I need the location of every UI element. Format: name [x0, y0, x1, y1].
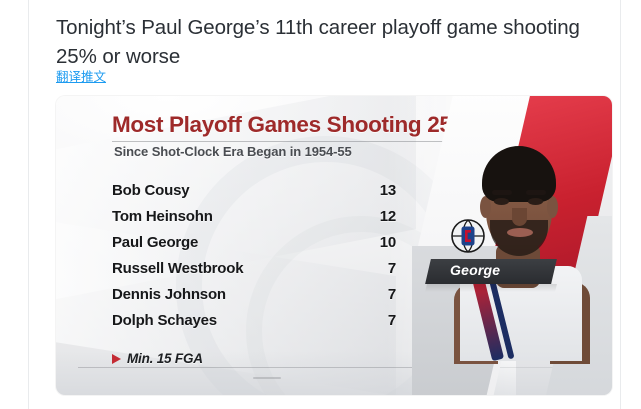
- translate-tweet-link[interactable]: 翻译推文: [56, 69, 106, 84]
- footnote-text: Min. 15 FGA: [127, 351, 203, 366]
- player-value: 7: [350, 312, 396, 329]
- list-item: Tom Heinsohn 12: [112, 208, 412, 234]
- footnote-tick-mark: [253, 377, 281, 379]
- list-item: Russell Westbrook 7: [112, 260, 412, 286]
- triangle-marker-icon: [112, 354, 121, 364]
- page-divider-left: [28, 0, 29, 409]
- player-name: Tom Heinsohn: [112, 208, 213, 225]
- tweet-screenshot: Tonight’s Paul George’s 11th career play…: [0, 0, 641, 409]
- player-name-banner-shadow: [425, 284, 557, 292]
- list-item: Dolph Schayes 7: [112, 312, 412, 338]
- player-name: Dolph Schayes: [112, 312, 217, 329]
- player-value: 7: [350, 286, 396, 303]
- headshot-brow-left: [492, 190, 512, 195]
- player-value: 7: [350, 260, 396, 277]
- footnote-divider: [78, 367, 428, 368]
- headshot-eye-right: [528, 198, 543, 205]
- player-name-label: George: [450, 262, 500, 278]
- list-item: Paul George 10: [112, 234, 412, 260]
- leaderboard-list: Bob Cousy 13 Tom Heinsohn 12 Paul George…: [112, 182, 412, 338]
- player-value: 12: [350, 208, 396, 225]
- player-name: Dennis Johnson: [112, 286, 226, 303]
- list-item: Bob Cousy 13: [112, 182, 412, 208]
- page-divider-right: [620, 0, 621, 409]
- headshot-nose: [512, 208, 527, 226]
- headshot-brow-right: [526, 190, 546, 195]
- player-name: Russell Westbrook: [112, 260, 243, 277]
- player-value: 13: [350, 182, 396, 199]
- player-panel: George: [412, 96, 612, 395]
- footnote: Min. 15 FGA: [112, 351, 203, 366]
- player-name: Paul George: [112, 234, 198, 251]
- player-name: Bob Cousy: [112, 182, 189, 199]
- tweet-text: Tonight’s Paul George’s 11th career play…: [56, 13, 596, 71]
- headshot-lips: [507, 228, 533, 237]
- list-item: Dennis Johnson 7: [112, 286, 412, 312]
- clippers-logo-icon: [450, 218, 486, 254]
- infographic-card[interactable]: Most Playoff Games Shooting 25% or Worse…: [56, 96, 612, 395]
- headshot-eye-left: [494, 198, 509, 205]
- infographic-subhead: Since Shot-Clock Era Began in 1954-55: [114, 144, 352, 159]
- player-value: 10: [350, 234, 396, 251]
